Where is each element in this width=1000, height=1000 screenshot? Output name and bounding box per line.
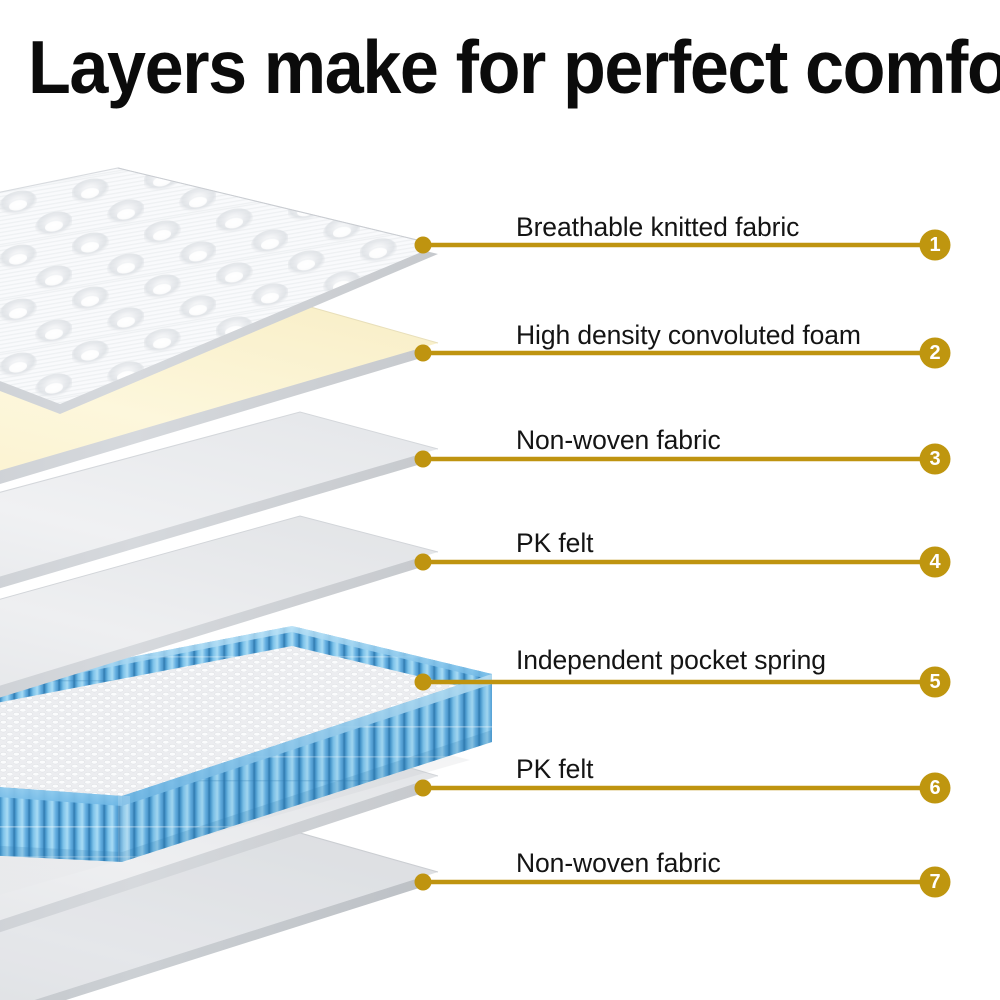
leader-dot-6 (415, 780, 432, 797)
badge-number-3: 3 (920, 444, 950, 474)
badge-number-1: 1 (920, 230, 950, 260)
badge-number-6: 6 (920, 773, 950, 803)
leader-dot-2 (415, 345, 432, 362)
layer-label-3: Non-woven fabric (516, 425, 721, 455)
layer-label-6: PK felt (516, 754, 593, 784)
layer-label-2: High density convoluted foam (516, 320, 861, 350)
layer-label-7: Non-woven fabric (516, 848, 721, 878)
mattress-layer-diagram (0, 0, 1000, 1000)
badge-number-7: 7 (920, 867, 950, 897)
badge-number-2: 2 (920, 338, 950, 368)
callout-dots (415, 237, 432, 891)
layer-label-4: PK felt (516, 528, 593, 558)
layer-label-5: Independent pocket spring (516, 645, 826, 675)
leader-dot-3 (415, 451, 432, 468)
infographic-canvas: Layers make for perfect comfort (0, 0, 1000, 1000)
leader-dot-1 (415, 237, 432, 254)
leader-dot-4 (415, 554, 432, 571)
badge-number-5: 5 (920, 667, 950, 697)
leader-dot-7 (415, 874, 432, 891)
badge-number-4: 4 (920, 547, 950, 577)
leader-dot-5 (415, 674, 432, 691)
layer-label-1: Breathable knitted fabric (516, 212, 799, 242)
